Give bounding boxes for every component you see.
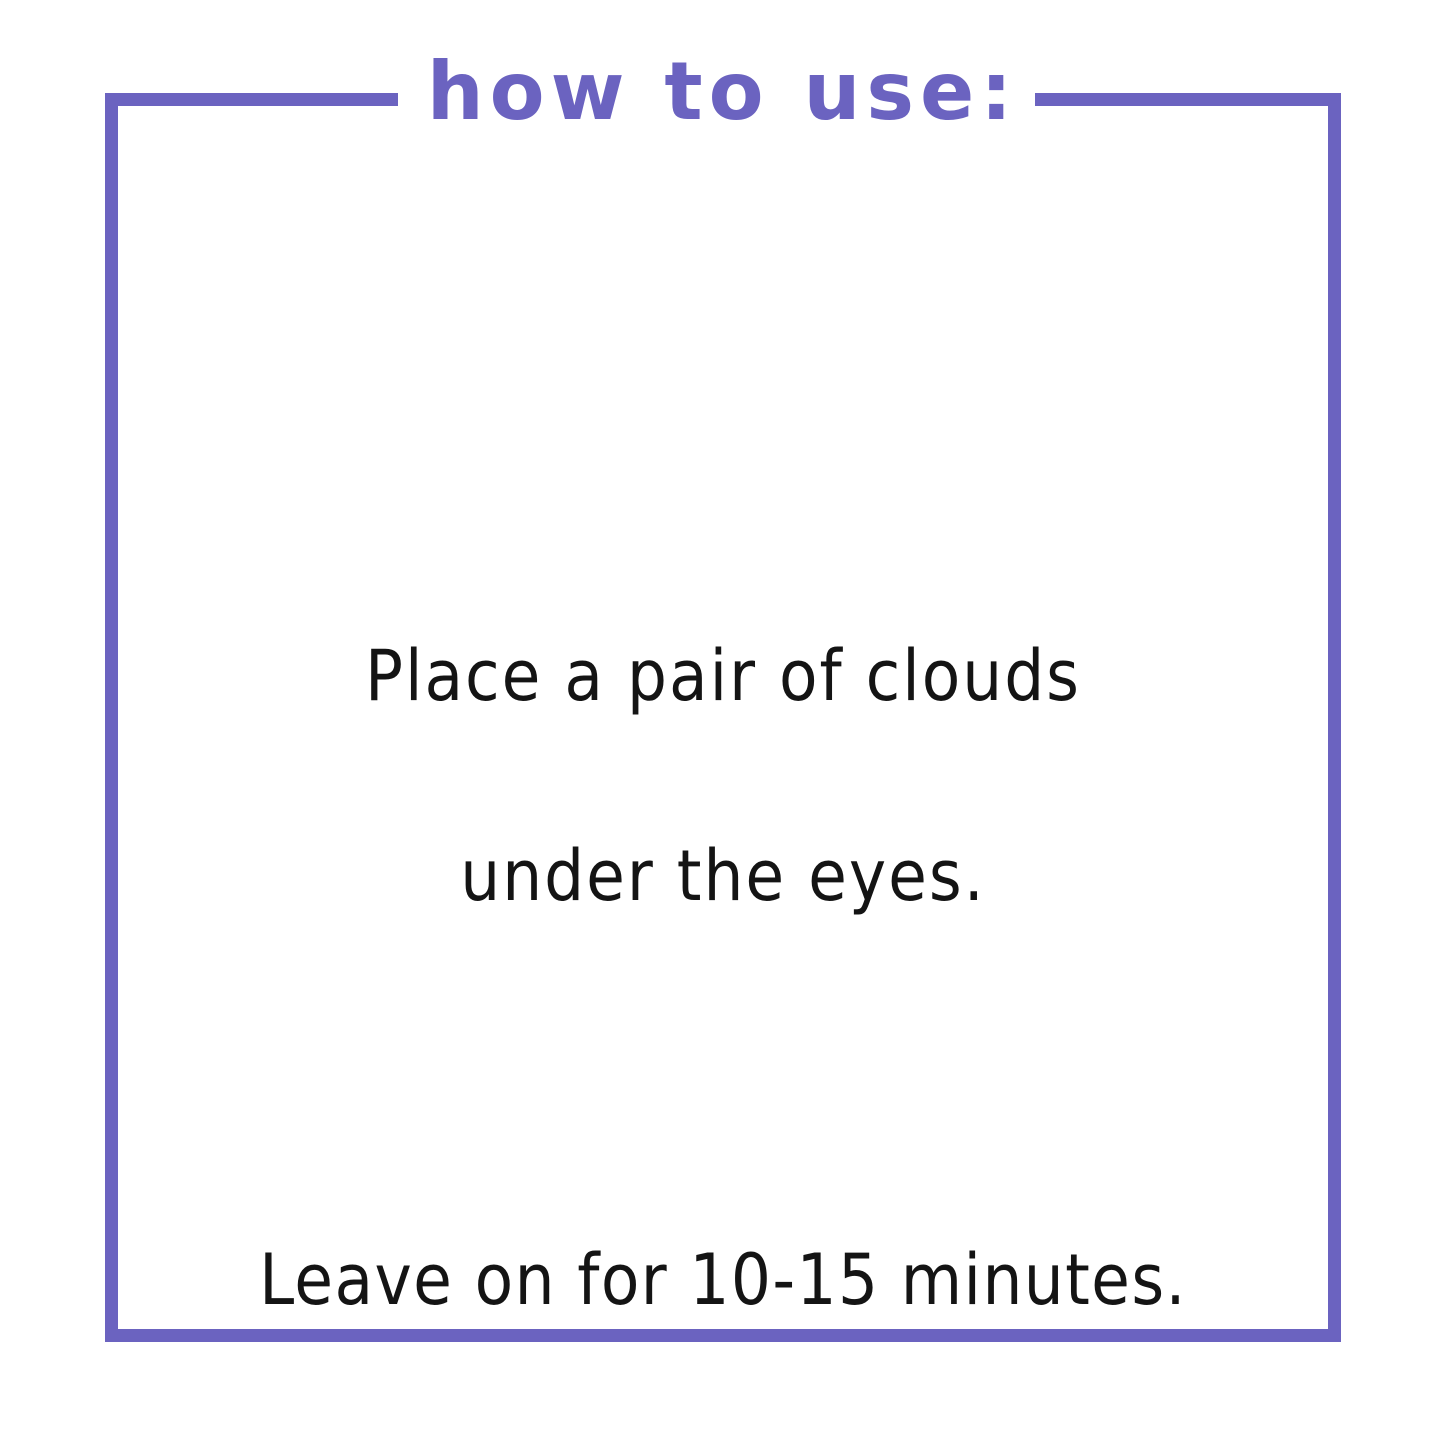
- instruction-step-1: Place a pair of clouds under the eyes.: [118, 526, 1328, 1026]
- how-to-use-card: how to use: Place a pair of clouds under…: [0, 0, 1445, 1445]
- page-title: how to use:: [0, 52, 1445, 132]
- instructions-block: Place a pair of clouds under the eyes. L…: [118, 500, 1328, 1430]
- frame-right-rule: [1328, 93, 1341, 1342]
- frame-left-rule: [105, 93, 118, 1342]
- instruction-step-2: Leave on for 10-15 minutes.: [118, 1130, 1328, 1430]
- instruction-step-1-line-2: under the eyes.: [118, 826, 1328, 926]
- instruction-step-1-line-1: Place a pair of clouds: [118, 626, 1328, 726]
- instruction-step-2-line-1: Leave on for 10-15 minutes.: [118, 1230, 1328, 1330]
